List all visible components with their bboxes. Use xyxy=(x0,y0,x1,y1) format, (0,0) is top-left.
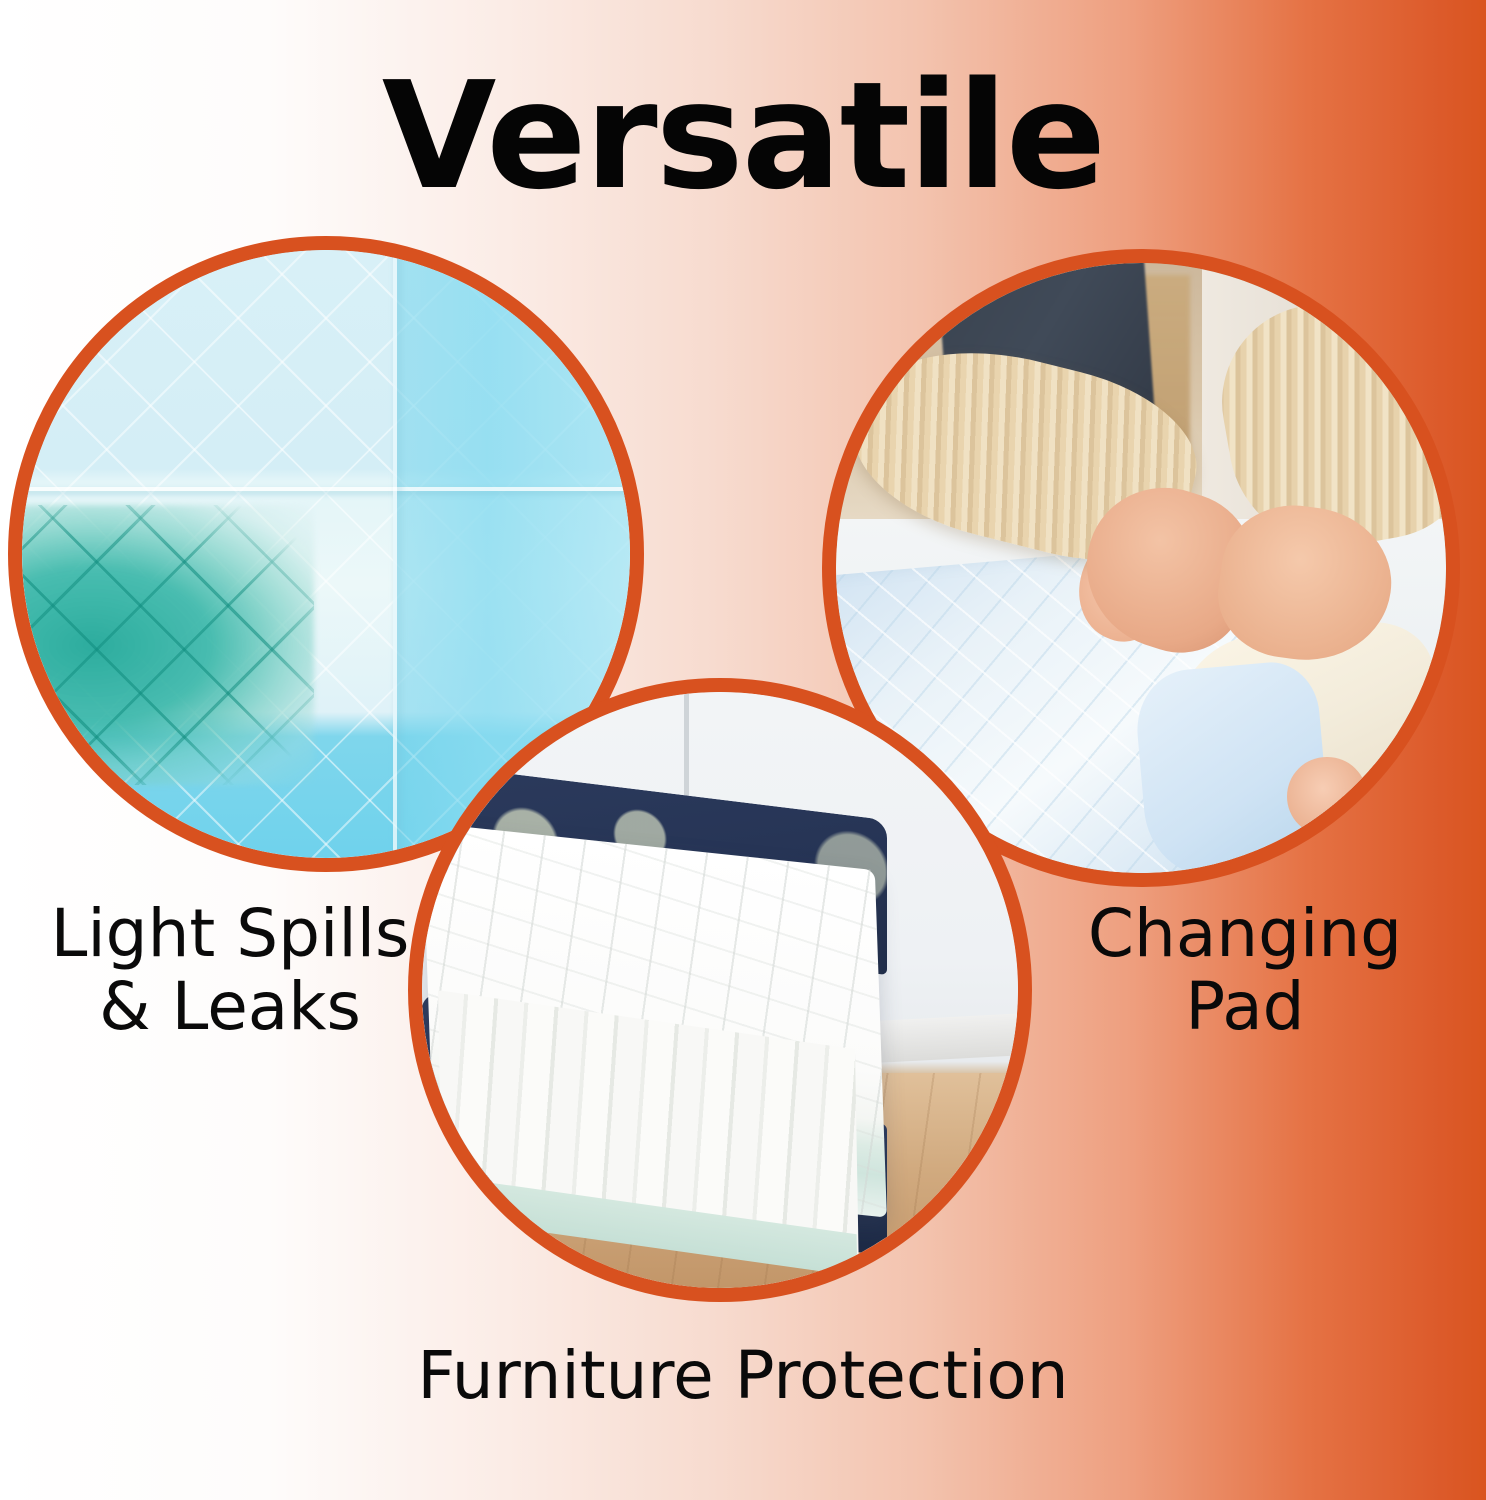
pad-fold-vertical xyxy=(393,250,397,858)
feature-image-furniture-protection xyxy=(408,678,1032,1302)
stain-quilt-detail xyxy=(22,505,314,785)
furniture-protection-photo xyxy=(422,692,1018,1288)
page-title: Versatile xyxy=(0,62,1486,210)
feature-caption-changing-pad: Changing Pad xyxy=(1045,898,1445,1043)
pad-fold-horizontal xyxy=(22,487,630,491)
feature-caption-furniture-protection: Furniture Protection xyxy=(343,1340,1143,1413)
baby-hand xyxy=(1287,757,1366,836)
feature-caption-light-spills-leaks: Light Spills & Leaks xyxy=(20,898,440,1043)
product-feature-poster: Versatile xyxy=(0,0,1486,1500)
